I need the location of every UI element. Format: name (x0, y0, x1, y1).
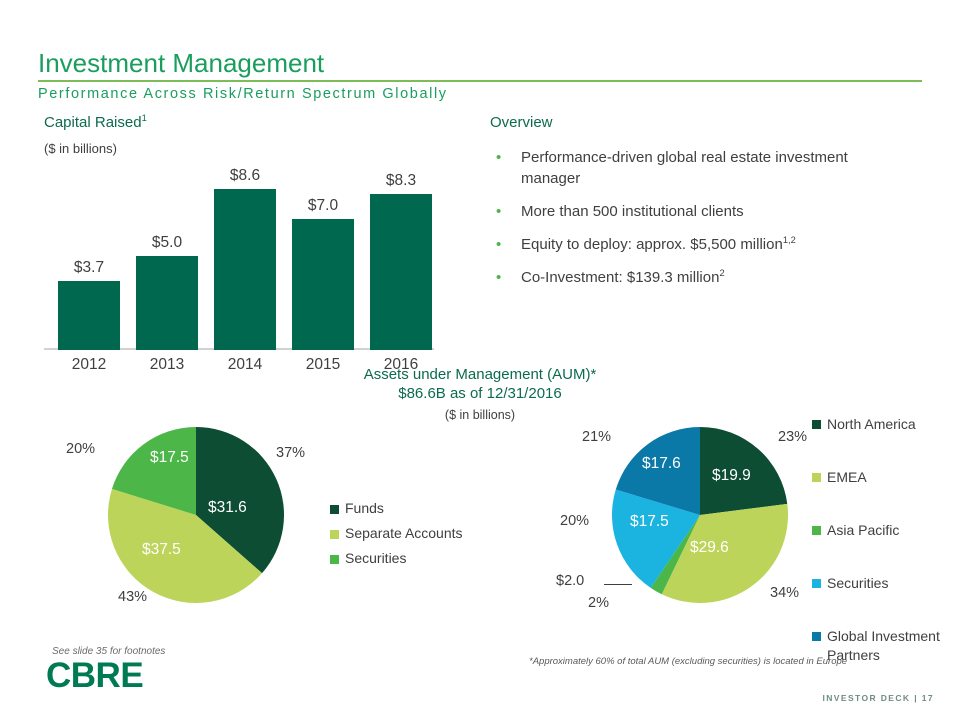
bullet-icon: • (496, 201, 501, 222)
bar-chart: $3.7$5.0$8.6$7.0$8.3 (44, 170, 434, 350)
legend-region-item[interactable]: Asia Pacific (812, 521, 958, 540)
legend-region-label: Asia Pacific (827, 521, 899, 540)
aum-units: ($ in billions) (280, 408, 680, 422)
overview-footnote-marker: 2 (719, 268, 724, 278)
legend-product-item[interactable]: Separate Accounts (330, 525, 463, 541)
cbre-logo: CBRE (46, 656, 143, 696)
bar-column[interactable]: $7.0 (292, 170, 354, 350)
aum-title-line-2: $86.6B as of 12/31/2016 (280, 384, 680, 403)
legend-swatch-icon (330, 555, 339, 564)
bar-column[interactable]: $5.0 (136, 170, 198, 350)
legend-product-item[interactable]: Funds (330, 500, 463, 516)
overview-bullet-item: •Performance-driven global real estate i… (490, 147, 910, 189)
pie-percent-label: 34% (770, 585, 799, 601)
overview-bullet-item: •More than 500 institutional clients (490, 201, 910, 222)
pie-value-label: $31.6 (208, 499, 247, 517)
legend-product-label: Securities (345, 550, 406, 566)
pie-value-label: $17.5 (150, 449, 189, 467)
overview-bullet-text: Co-Investment: $139.3 million (521, 269, 719, 286)
pie-value-label: $17.5 (630, 513, 669, 531)
pie-percent-label: 37% (276, 445, 305, 461)
pie-callout-value-label: $2.0 (556, 573, 584, 589)
pie-value-label: $29.6 (690, 539, 729, 557)
page-indicator: INVESTOR DECK | 17 (823, 693, 935, 703)
aum-by-region-pie-chart: $19.9$29.6$17.5$17.623%34%2%20%21%$2.0 (612, 427, 788, 603)
bar-2013[interactable] (136, 256, 198, 350)
pie-callout-leader-line (604, 584, 632, 585)
pie-value-label: $37.5 (142, 541, 181, 559)
legend-swatch-icon (812, 579, 821, 588)
overview-section: Overview •Performance-driven global real… (490, 114, 910, 300)
bar-value-label: $5.0 (124, 234, 210, 252)
legend-region-label: North America (827, 415, 916, 434)
bar-value-label: $7.0 (280, 197, 366, 215)
page-title: Investment Management (38, 48, 922, 78)
bar-column[interactable]: $8.3 (370, 170, 432, 350)
bar-column[interactable]: $3.7 (58, 170, 120, 350)
legend-region-label: Securities (827, 574, 888, 593)
legend-region-item[interactable]: Securities (812, 574, 958, 593)
bullet-icon: • (496, 234, 501, 255)
bullet-icon: • (496, 147, 501, 168)
slide-footnote-right: *Approximately 60% of total AUM (excludi… (529, 655, 859, 668)
overview-title: Overview (490, 114, 910, 131)
legend-region-item[interactable]: EMEA (812, 468, 958, 487)
overview-bullet-text: Performance-driven global real estate in… (521, 149, 848, 187)
overview-bullet-item: •Equity to deploy: approx. $5,500 millio… (490, 234, 910, 255)
overview-bullet-text: Equity to deploy: approx. $5,500 million (521, 236, 783, 253)
legend-swatch-icon (812, 420, 821, 429)
bar-2016[interactable] (370, 194, 432, 350)
aum-by-product-legend: FundsSeparate AccountsSecurities (330, 500, 463, 575)
bar-value-label: $3.7 (46, 259, 132, 277)
bar-value-label: $8.6 (202, 167, 288, 185)
pie-percent-label: 20% (66, 441, 95, 457)
capital-raised-title-text: Capital Raised (44, 114, 142, 131)
aum-heading: Assets under Management (AUM)* $86.6B as… (280, 365, 680, 422)
capital-raised-units: ($ in billions) (44, 141, 444, 156)
legend-product-item[interactable]: Securities (330, 550, 463, 566)
pie-percent-label: 20% (560, 513, 589, 529)
bullet-icon: • (496, 267, 501, 288)
legend-swatch-icon (330, 530, 339, 539)
legend-region-label: EMEA (827, 468, 867, 487)
bar-x-tick-2013: 2013 (124, 356, 210, 374)
pie-percent-label: 23% (778, 429, 807, 445)
capital-raised-footnote-marker: 1 (142, 113, 147, 123)
legend-swatch-icon (812, 526, 821, 535)
pie-svg (108, 427, 284, 603)
bar-x-tick-2014: 2014 (202, 356, 288, 374)
pie-percent-label: 2% (588, 595, 609, 611)
bar-x-tick-2012: 2012 (46, 356, 132, 374)
legend-swatch-icon (812, 473, 821, 482)
pie-percent-label: 21% (582, 429, 611, 445)
page-subtitle: Performance Across Risk/Return Spectrum … (38, 86, 922, 102)
pie-percent-label: 43% (118, 589, 147, 605)
legend-product-label: Separate Accounts (345, 525, 463, 541)
overview-bullet-list: •Performance-driven global real estate i… (490, 147, 910, 288)
legend-swatch-icon (812, 632, 821, 641)
capital-raised-section: Capital Raised1 ($ in billions) $3.7$5.0… (44, 114, 444, 380)
bar-value-label: $8.3 (358, 172, 444, 190)
aum-by-product-pie-chart: $31.6$37.5$17.537%43%20% (108, 427, 284, 603)
legend-product-label: Funds (345, 500, 384, 516)
bar-2014[interactable] (214, 189, 276, 350)
pie-value-label: $19.9 (712, 467, 751, 485)
bar-2015[interactable] (292, 219, 354, 350)
bar-2012[interactable] (58, 281, 120, 350)
overview-bullet-item: •Co-Investment: $139.3 million2 (490, 267, 910, 288)
overview-bullet-text: More than 500 institutional clients (521, 203, 744, 220)
legend-swatch-icon (330, 505, 339, 514)
pie-value-label: $17.6 (642, 455, 681, 473)
legend-region-item[interactable]: North America (812, 415, 958, 434)
slide-header: Investment Management Performance Across… (38, 48, 922, 102)
overview-footnote-marker: 1,2 (783, 235, 796, 245)
capital-raised-title: Capital Raised1 (44, 114, 444, 131)
bar-column[interactable]: $8.6 (214, 170, 276, 350)
aum-title-line-1: Assets under Management (AUM)* (280, 365, 680, 384)
title-divider (38, 80, 922, 82)
